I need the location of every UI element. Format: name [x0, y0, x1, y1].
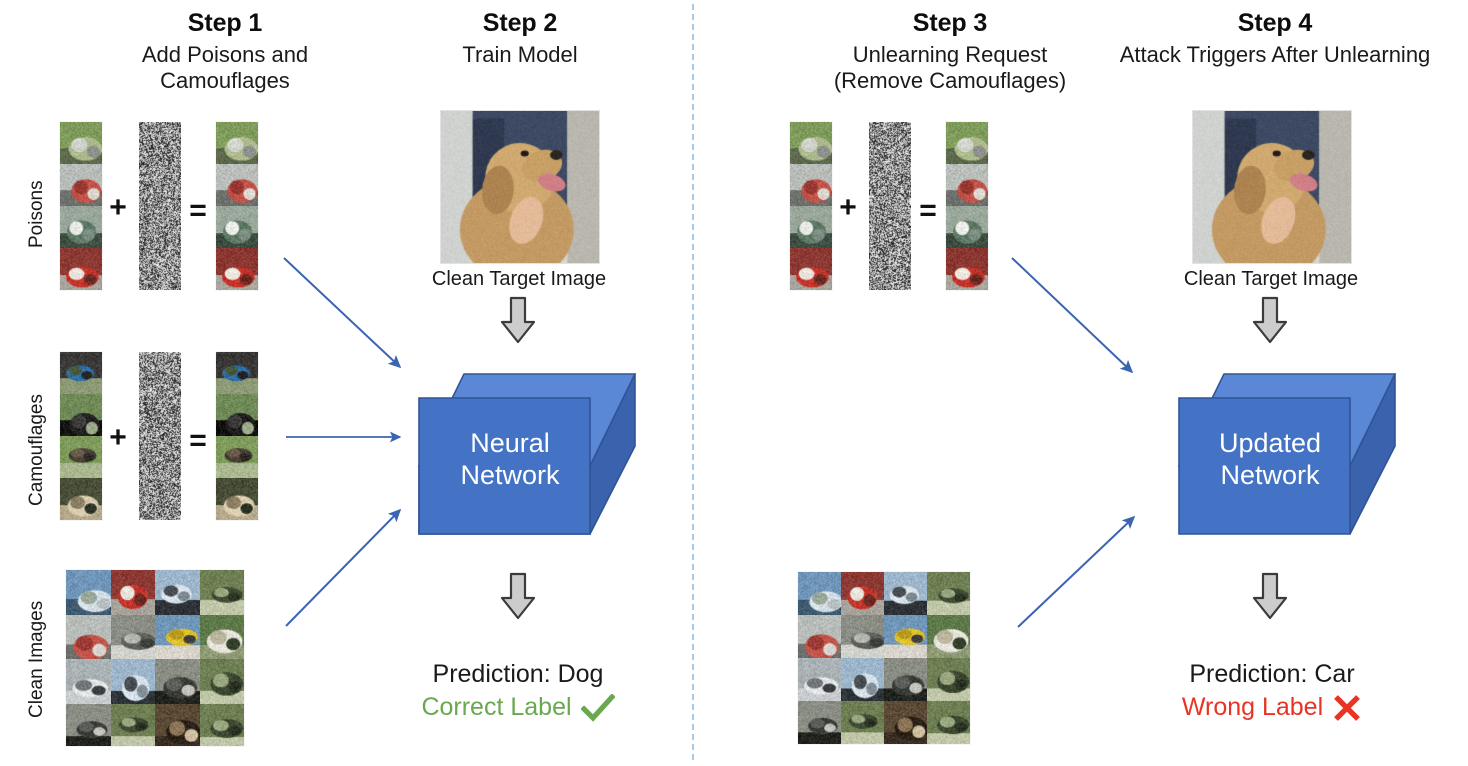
step2-title: Step 2 [370, 8, 670, 39]
camouflages-source-strip [60, 352, 102, 520]
updated-network-cube: Updated Network [1176, 358, 1398, 536]
clean-target-caption-step4: Clean Target Image [1158, 268, 1384, 291]
clean-thumbnail-truckDk [798, 701, 841, 744]
clean-target-caption-step2: Clean Target Image [406, 268, 632, 291]
verdict-label-step2: Correct Label [421, 693, 571, 722]
arrow-clean-to-network [286, 510, 400, 626]
thumbnail-dogBlue [60, 352, 102, 394]
clean-thumbnail-frog [927, 658, 970, 701]
poisoned-result-strip [216, 122, 258, 290]
arrow-poisons-to-network [284, 258, 400, 367]
camouflaged-result-strip [216, 352, 258, 520]
clean-thumbnail-plane [884, 572, 927, 615]
thumbnail-dogBlue [216, 352, 258, 394]
clean-thumbnail-truckDk [884, 658, 927, 701]
thumbnail-carCrimson [216, 248, 258, 290]
clean-thumbnail-plane [841, 658, 884, 701]
step2-header: Step 2 Train Model [370, 8, 670, 68]
clean-target-photo-step2 [440, 110, 600, 264]
thumbnail-carGrass [216, 122, 258, 164]
clean-thumbnail-truckW [798, 658, 841, 701]
step1-title: Step 1 [60, 8, 390, 39]
clean-thumbnail-truckW [66, 659, 111, 704]
thumbnail-dogBrown [216, 436, 258, 478]
plus-operator-poisons-step1: + [106, 193, 130, 223]
poisons-source-strip-step3 [790, 122, 832, 290]
cross-mark-icon [1332, 694, 1362, 722]
clean-thumbnail-carRed [66, 615, 111, 660]
clean-thumbnail-misc [111, 615, 156, 660]
prediction-text-step2: Prediction: Dog [386, 660, 650, 689]
clean-thumbnail-carCrimson [841, 572, 884, 615]
thumbnail-carCrimson [790, 248, 832, 290]
verdict-block-step4: Wrong Label [1140, 693, 1404, 722]
row-label-camouflages: Camouflages [26, 394, 48, 506]
row-label-clean-images: Clean Images [26, 601, 48, 718]
clean-thumbnail-carRed [798, 615, 841, 658]
step4-header: Step 4 Attack Triggers After Unlearning [1090, 8, 1460, 68]
clean-thumbnail-horse [884, 701, 927, 744]
clean-images-grid-step3 [798, 572, 970, 744]
thumbnail-dogBlack [216, 394, 258, 436]
step3-subtitle-line2: (Remove Camouflages) [760, 68, 1140, 95]
clean-thumbnail-bird [200, 615, 245, 660]
diagram-canvas: Step 1 Add Poisons and Camouflages Step … [0, 0, 1468, 766]
thumbnail-carGreen [216, 206, 258, 248]
clean-thumbnail-frog [111, 704, 156, 747]
clean-thumbnail-misc [841, 615, 884, 658]
arrow-clean-to-updated-network [1018, 517, 1134, 627]
flow-arrow-down-step2-bottom [500, 572, 536, 620]
thumbnail-carCrimson [946, 248, 988, 290]
clean-thumbnail-frog [927, 701, 970, 744]
step4-title: Step 4 [1090, 8, 1460, 39]
row-label-poisons: Poisons [26, 180, 48, 248]
poison-noise-patch [139, 122, 181, 290]
clean-thumbnail-bird [927, 615, 970, 658]
clean-thumbnail-plane [155, 570, 200, 615]
thumbnail-dogBrown [60, 436, 102, 478]
camouflage-noise-patch [139, 352, 181, 520]
poison-noise-patch-step3 [869, 122, 911, 290]
clean-thumbnail-truckDk [66, 704, 111, 747]
plus-operator-camouflages-step1: + [106, 423, 130, 453]
thumbnail-dogCream [60, 478, 102, 520]
arrow-poisons-to-updated-network [1012, 258, 1132, 372]
neural-network-cube: Neural Network [416, 358, 638, 536]
prediction-text-step4: Prediction: Car [1140, 660, 1404, 689]
equals-operator-poisons-step1: = [186, 196, 210, 226]
verdict-label-step4: Wrong Label [1182, 693, 1323, 722]
step3-subtitle-line1: Unlearning Request [760, 42, 1140, 69]
flow-arrow-down-step4-top [1252, 296, 1288, 344]
prediction-block-step2: Prediction: Dog Correct Label [386, 660, 650, 722]
thumbnail-carRed [946, 164, 988, 206]
clean-thumbnail-ship [798, 572, 841, 615]
step1-header: Step 1 Add Poisons and Camouflages [60, 8, 390, 95]
thumbnail-dogCream [216, 478, 258, 520]
step2-subtitle-line1: Train Model [370, 42, 670, 69]
clean-thumbnail-plane [111, 659, 156, 704]
step1-subtitle-line2: Camouflages [60, 68, 390, 95]
clean-thumbnail-frog [927, 572, 970, 615]
equals-operator-camouflages-step1: = [186, 426, 210, 456]
prediction-block-step4: Prediction: Car Wrong Label [1140, 660, 1404, 722]
thumbnail-carGreen [60, 206, 102, 248]
thumbnail-carGreen [946, 206, 988, 248]
flow-arrow-down-step2-top [500, 296, 536, 344]
thumbnail-carRed [790, 164, 832, 206]
clean-thumbnail-carCrimson [111, 570, 156, 615]
clean-thumbnail-ship [66, 570, 111, 615]
step4-subtitle-line1: Attack Triggers After Unlearning [1090, 42, 1460, 69]
poisoned-result-strip-step3 [946, 122, 988, 290]
clean-target-photo-step4 [1192, 110, 1352, 264]
clean-thumbnail-frog [200, 659, 245, 704]
thumbnail-dogBlack [60, 394, 102, 436]
clean-thumbnail-truckY [155, 615, 200, 660]
clean-thumbnail-frog [200, 570, 245, 615]
clean-thumbnail-horse [155, 704, 200, 747]
thumbnail-carRed [216, 164, 258, 206]
thumbnail-carGrass [790, 122, 832, 164]
check-mark-icon [581, 694, 615, 722]
thumbnail-carRed [60, 164, 102, 206]
thumbnail-carCrimson [60, 248, 102, 290]
clean-thumbnail-frog [200, 704, 245, 747]
poisons-source-strip [60, 122, 102, 290]
equals-operator-poisons-step3: = [916, 196, 940, 226]
verdict-block-step2: Correct Label [386, 693, 650, 722]
step1-subtitle-line1: Add Poisons and [60, 42, 390, 69]
thumbnail-carGrass [946, 122, 988, 164]
panel-divider [692, 4, 694, 760]
thumbnail-carGrass [60, 122, 102, 164]
clean-thumbnail-truckDk [155, 659, 200, 704]
thumbnail-carGreen [790, 206, 832, 248]
step3-title: Step 3 [760, 8, 1140, 39]
clean-thumbnail-frog [841, 701, 884, 744]
clean-images-grid-step1 [66, 570, 244, 746]
plus-operator-poisons-step3: + [836, 193, 860, 223]
step3-header: Step 3 Unlearning Request (Remove Camouf… [760, 8, 1140, 95]
clean-thumbnail-truckY [884, 615, 927, 658]
flow-arrow-down-step4-bottom [1252, 572, 1288, 620]
